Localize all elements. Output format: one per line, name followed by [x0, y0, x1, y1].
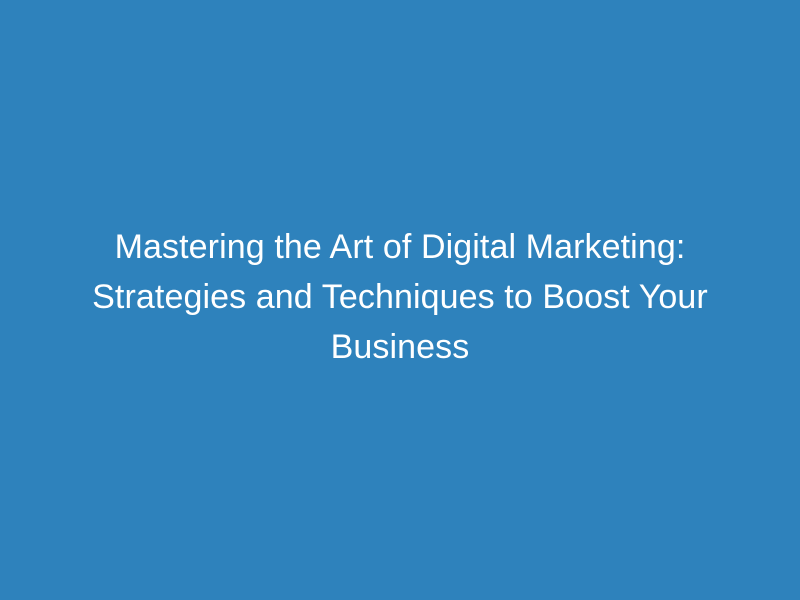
page-title: Mastering the Art of Digital Marketing: … [90, 222, 710, 372]
hero-canvas: Mastering the Art of Digital Marketing: … [0, 0, 800, 600]
title-block: Mastering the Art of Digital Marketing: … [90, 222, 710, 372]
